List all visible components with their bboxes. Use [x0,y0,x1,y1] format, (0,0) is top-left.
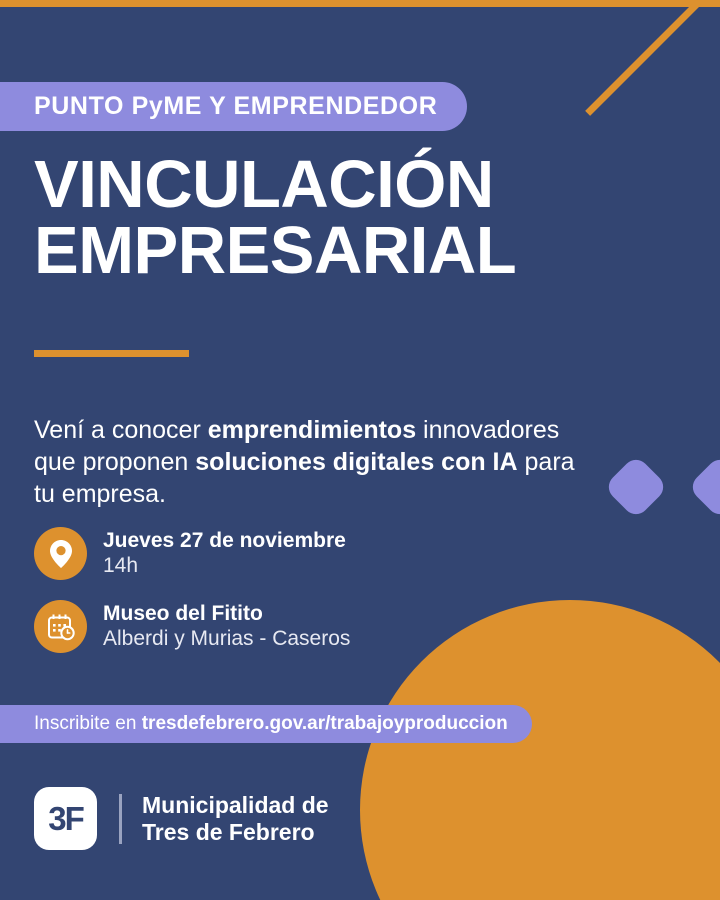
description-bold-2: soluciones digitales con IA [195,448,517,476]
signup-text: Inscribite en tresdefebrero.gov.ar/traba… [34,713,508,735]
signup-url[interactable]: tresdefebrero.gov.ar/trabajoyproduccion [142,713,508,734]
logo-divider [119,794,122,844]
municipality-logo-text: 3F [48,800,83,838]
corner-diagonal-accent [574,0,720,148]
municipality-name: Municipalidad de Tres de Febrero [142,792,329,845]
event-details-list: Jueves 27 de noviembre 14h [34,527,594,673]
map-pin-icon [34,527,87,580]
event-detail-text-venue: Museo del Fitito Alberdi y Murias - Case… [103,602,350,651]
calendar-clock-icon [34,600,87,653]
event-date-primary: Jueves 27 de noviembre [103,529,346,553]
category-badge: PUNTO PyME Y EMPRENDEDOR [0,82,467,131]
event-detail-text-date: Jueves 27 de noviembre 14h [103,529,346,578]
decorative-diamond-2 [687,454,720,519]
signup-prefix: Inscribite en [34,713,142,734]
municipality-logo-mark: 3F [34,787,97,850]
page-title: VINCULACIÓN EMPRESARIAL [34,152,674,283]
municipality-name-line-2: Tres de Febrero [142,819,329,846]
description-text: Vení a conocer emprendimientos innovador… [34,414,594,510]
decorative-diamond-1 [603,454,668,519]
event-date-secondary: 14h [103,554,346,578]
page-title-line-1: VINCULACIÓN [34,152,674,218]
category-badge-label: PUNTO PyME Y EMPRENDEDOR [34,92,437,121]
page-title-line-2: EMPRESARIAL [34,218,674,284]
description-part-1: Vení a conocer [34,416,208,444]
signup-banner[interactable]: Inscribite en tresdefebrero.gov.ar/traba… [0,705,532,743]
footer-logo: 3F Municipalidad de Tres de Febrero [34,787,329,850]
event-venue-primary: Museo del Fitito [103,602,350,626]
event-detail-row-date: Jueves 27 de noviembre 14h [34,527,594,580]
municipality-name-line-1: Municipalidad de [142,792,329,819]
event-venue-secondary: Alberdi y Murias - Caseros [103,627,350,651]
event-detail-row-venue: Museo del Fitito Alberdi y Murias - Case… [34,600,594,653]
description-bold-1: emprendimientos [208,416,416,444]
title-underline-rule [34,350,189,357]
poster: PUNTO PyME Y EMPRENDEDOR VINCULACIÓN EMP… [0,0,720,900]
